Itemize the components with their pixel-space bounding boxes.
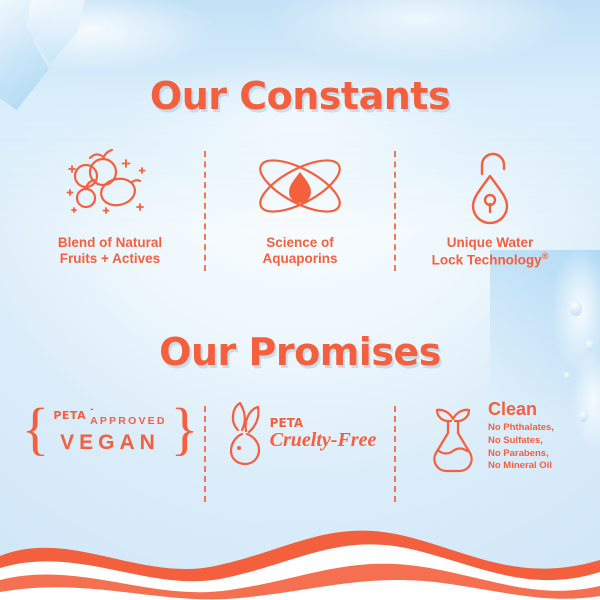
- clean-claims-list: No Phthalates, No Sulfates, No Parabens,…: [488, 422, 554, 473]
- caption-line-1: Science of: [266, 235, 334, 250]
- padlock-water-drop-icon: [451, 145, 529, 227]
- peta-vegan-badge-icon: { PETA - APPROVED VEGAN }: [22, 400, 199, 458]
- clean-text-block: Clean No Phthalates, No Sulfates, No Par…: [488, 400, 554, 473]
- cruelty-free-text: PETA Cruelty-Free: [270, 416, 377, 451]
- clean-claim: No Sulfates,: [488, 435, 554, 448]
- promise-item-cruelty-free: PETA Cruelty-Free: [216, 400, 384, 466]
- caption-line-1: Blend of Natural: [58, 235, 162, 250]
- approved-label: - APPROVED: [90, 403, 167, 427]
- constant-caption-waterlock: Unique Water Lock Technology®: [432, 235, 549, 269]
- page-title-promises: Our Promises: [0, 330, 600, 374]
- clean-flask-leaf-icon: [426, 401, 480, 473]
- vegan-badge-text: PETA - APPROVED VEGAN: [53, 403, 166, 455]
- brace-right-icon: }: [171, 400, 199, 458]
- caption-line-1: Unique Water: [447, 235, 534, 250]
- constants-row: Blend of Natural Fruits + Actives Scienc…: [0, 145, 600, 271]
- clean-claim: No Parabens,: [488, 448, 554, 461]
- peta-logo-text: PETA: [270, 416, 304, 430]
- peta-logo-text: PETA: [53, 409, 86, 422]
- caption-line-2: Fruits + Actives: [60, 251, 160, 266]
- atom-water-drop-icon: [248, 145, 352, 227]
- constant-caption-fruits: Blend of Natural Fruits + Actives: [58, 235, 162, 268]
- promise-item-vegan: { PETA - APPROVED VEGAN }: [26, 400, 194, 458]
- fruits-sparkle-icon: [56, 145, 164, 227]
- divider-4: [394, 406, 396, 502]
- promise-item-clean: Clean No Phthalates, No Sulfates, No Par…: [406, 400, 574, 473]
- clean-group: Clean No Phthalates, No Sulfates, No Par…: [426, 400, 554, 473]
- bottom-wave-decoration: [0, 510, 600, 600]
- poster-canvas: Our Constants: [0, 0, 600, 600]
- trademark-symbol: ®: [542, 251, 549, 261]
- divider-2: [394, 151, 396, 271]
- caption-line-2: Aquaporins: [262, 251, 337, 266]
- promises-row: { PETA - APPROVED VEGAN }: [0, 400, 600, 502]
- clean-title: Clean: [488, 400, 537, 418]
- clean-claim: No Mineral Oil: [488, 460, 554, 473]
- cruelty-free-label: Cruelty-Free: [270, 430, 377, 451]
- caption-line-2: Lock Technology: [432, 253, 542, 268]
- constant-caption-aquaporins: Science of Aquaporins: [262, 235, 337, 268]
- divider-1: [204, 151, 206, 271]
- clean-claim: No Phthalates,: [488, 422, 554, 435]
- page-title-constants: Our Constants: [0, 74, 600, 118]
- constant-item-aquaporins: Science of Aquaporins: [216, 145, 384, 268]
- constant-item-fruits: Blend of Natural Fruits + Actives: [26, 145, 194, 268]
- peta-approved-line: PETA - APPROVED: [53, 403, 166, 427]
- constant-item-waterlock: Unique Water Lock Technology®: [406, 145, 574, 269]
- vegan-label: VEGAN: [60, 431, 160, 455]
- brace-left-icon: {: [22, 400, 50, 458]
- divider-3: [204, 406, 206, 502]
- cruelty-free-rabbit-icon: PETA Cruelty-Free: [224, 400, 377, 466]
